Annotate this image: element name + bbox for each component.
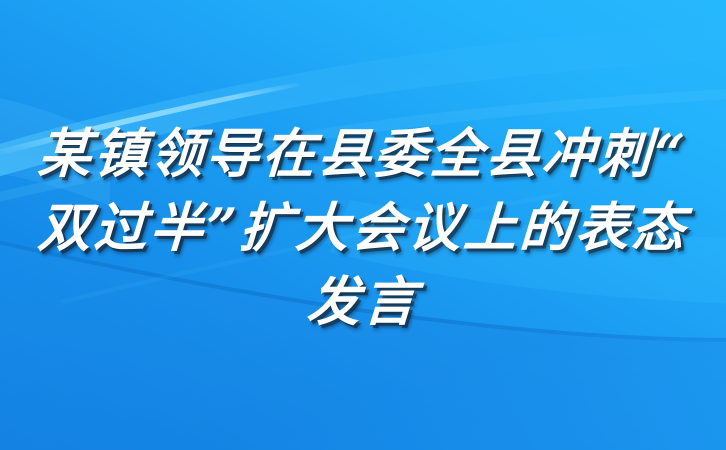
title-line-3: 发言 (305, 265, 421, 339)
title-line-2: 双过半”扩大会议上的表态 (36, 191, 689, 265)
title-text-block: 某镇领导在县委全县冲刺“ 双过半”扩大会议上的表态 发言 (0, 0, 726, 450)
title-banner: 某镇领导在县委全县冲刺“ 双过半”扩大会议上的表态 发言 (0, 0, 726, 450)
title-line-1: 某镇领导在县委全县冲刺“ (36, 117, 689, 191)
